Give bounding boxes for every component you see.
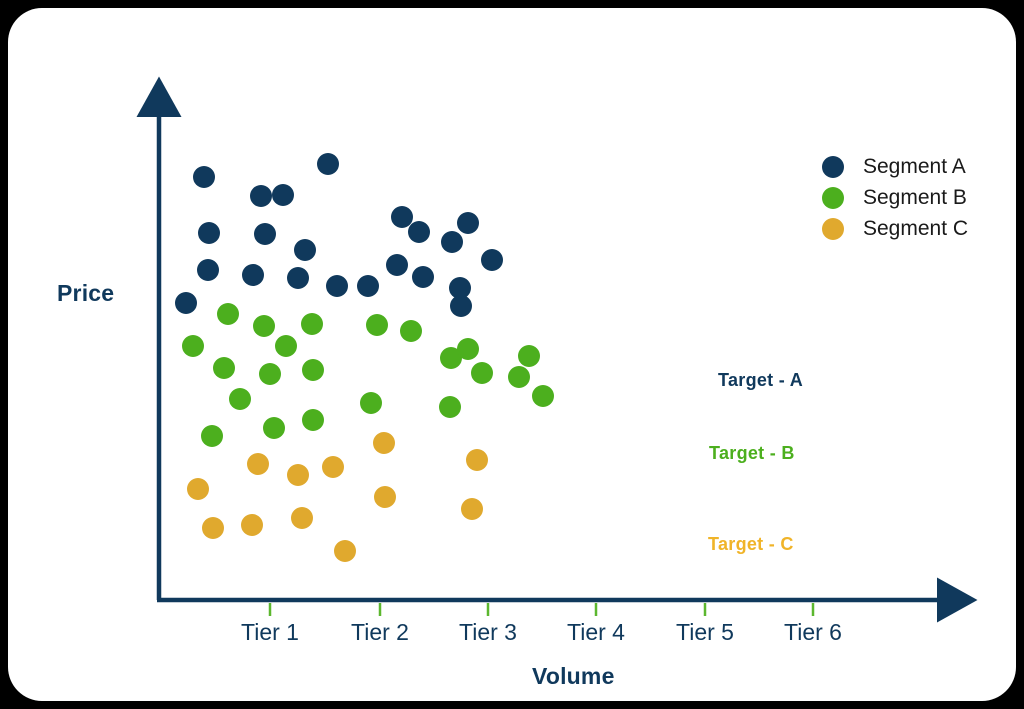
data-point[interactable] (322, 456, 344, 478)
data-point[interactable] (294, 239, 316, 261)
legend-item-segment-c[interactable]: Segment C (822, 217, 968, 241)
data-point[interactable] (374, 486, 396, 508)
data-point[interactable] (357, 275, 379, 297)
x-tick-label-6: Tier 6 (784, 619, 842, 646)
data-point[interactable] (508, 366, 530, 388)
data-point[interactable] (457, 338, 479, 360)
x-tick-label-5: Tier 5 (676, 619, 734, 646)
legend-swatch-icon (822, 218, 844, 240)
data-point[interactable] (187, 478, 209, 500)
data-point[interactable] (272, 184, 294, 206)
data-point[interactable] (182, 335, 204, 357)
data-point[interactable] (450, 295, 472, 317)
data-point[interactable] (461, 498, 483, 520)
data-point[interactable] (201, 425, 223, 447)
data-point[interactable] (193, 166, 215, 188)
y-axis-title: Price (57, 280, 114, 307)
data-point[interactable] (386, 254, 408, 276)
data-point[interactable] (441, 231, 463, 253)
legend-label: Segment B (863, 186, 967, 210)
annotation-target-a: Target - A (718, 370, 803, 391)
legend-item-segment-b[interactable]: Segment B (822, 186, 967, 210)
data-point[interactable] (242, 264, 264, 286)
series-segment-a (175, 153, 503, 317)
data-point[interactable] (360, 392, 382, 414)
data-point[interactable] (334, 540, 356, 562)
series-segment-b (182, 303, 554, 447)
data-point[interactable] (366, 314, 388, 336)
data-point[interactable] (253, 315, 275, 337)
x-tick-label-1: Tier 1 (241, 619, 299, 646)
data-point[interactable] (197, 259, 219, 281)
x-tick-label-2: Tier 2 (351, 619, 409, 646)
data-point[interactable] (247, 453, 269, 475)
data-point[interactable] (373, 432, 395, 454)
data-point[interactable] (291, 507, 313, 529)
data-point[interactable] (254, 223, 276, 245)
data-point[interactable] (175, 292, 197, 314)
data-point[interactable] (302, 359, 324, 381)
legend-item-segment-a[interactable]: Segment A (822, 155, 966, 179)
data-point[interactable] (317, 153, 339, 175)
x-axis-ticks (270, 603, 813, 616)
legend-swatch-icon (822, 156, 844, 178)
data-point[interactable] (217, 303, 239, 325)
data-point[interactable] (518, 345, 540, 367)
x-tick-label-3: Tier 3 (459, 619, 517, 646)
data-point[interactable] (400, 320, 422, 342)
data-point[interactable] (466, 449, 488, 471)
data-point[interactable] (287, 464, 309, 486)
data-point[interactable] (250, 185, 272, 207)
x-axis-title: Volume (532, 663, 615, 690)
x-tick-label-4: Tier 4 (567, 619, 625, 646)
legend-swatch-icon (822, 187, 844, 209)
data-point[interactable] (301, 313, 323, 335)
legend-label: Segment C (863, 217, 968, 241)
scatter-plot-canvas (8, 8, 1016, 701)
data-point[interactable] (532, 385, 554, 407)
data-point[interactable] (259, 363, 281, 385)
axis-lines (157, 108, 946, 600)
data-point[interactable] (275, 335, 297, 357)
data-point[interactable] (471, 362, 493, 384)
annotation-target-b: Target - B (709, 443, 795, 464)
data-point[interactable] (302, 409, 324, 431)
chart-card: Price Volume Tier 1Tier 2Tier 3Tier 4Tie… (8, 8, 1016, 701)
data-point[interactable] (241, 514, 263, 536)
legend-label: Segment A (863, 155, 966, 179)
data-point[interactable] (439, 396, 461, 418)
annotation-target-c: Target - C (708, 534, 794, 555)
data-point[interactable] (391, 206, 413, 228)
data-point[interactable] (412, 266, 434, 288)
data-point[interactable] (229, 388, 251, 410)
data-point[interactable] (202, 517, 224, 539)
data-point[interactable] (408, 221, 430, 243)
series-segment-c (187, 432, 488, 562)
data-points (175, 153, 554, 562)
data-point[interactable] (326, 275, 348, 297)
data-point[interactable] (198, 222, 220, 244)
data-point[interactable] (481, 249, 503, 271)
data-point[interactable] (287, 267, 309, 289)
data-point[interactable] (263, 417, 285, 439)
data-point[interactable] (213, 357, 235, 379)
data-point[interactable] (457, 212, 479, 234)
